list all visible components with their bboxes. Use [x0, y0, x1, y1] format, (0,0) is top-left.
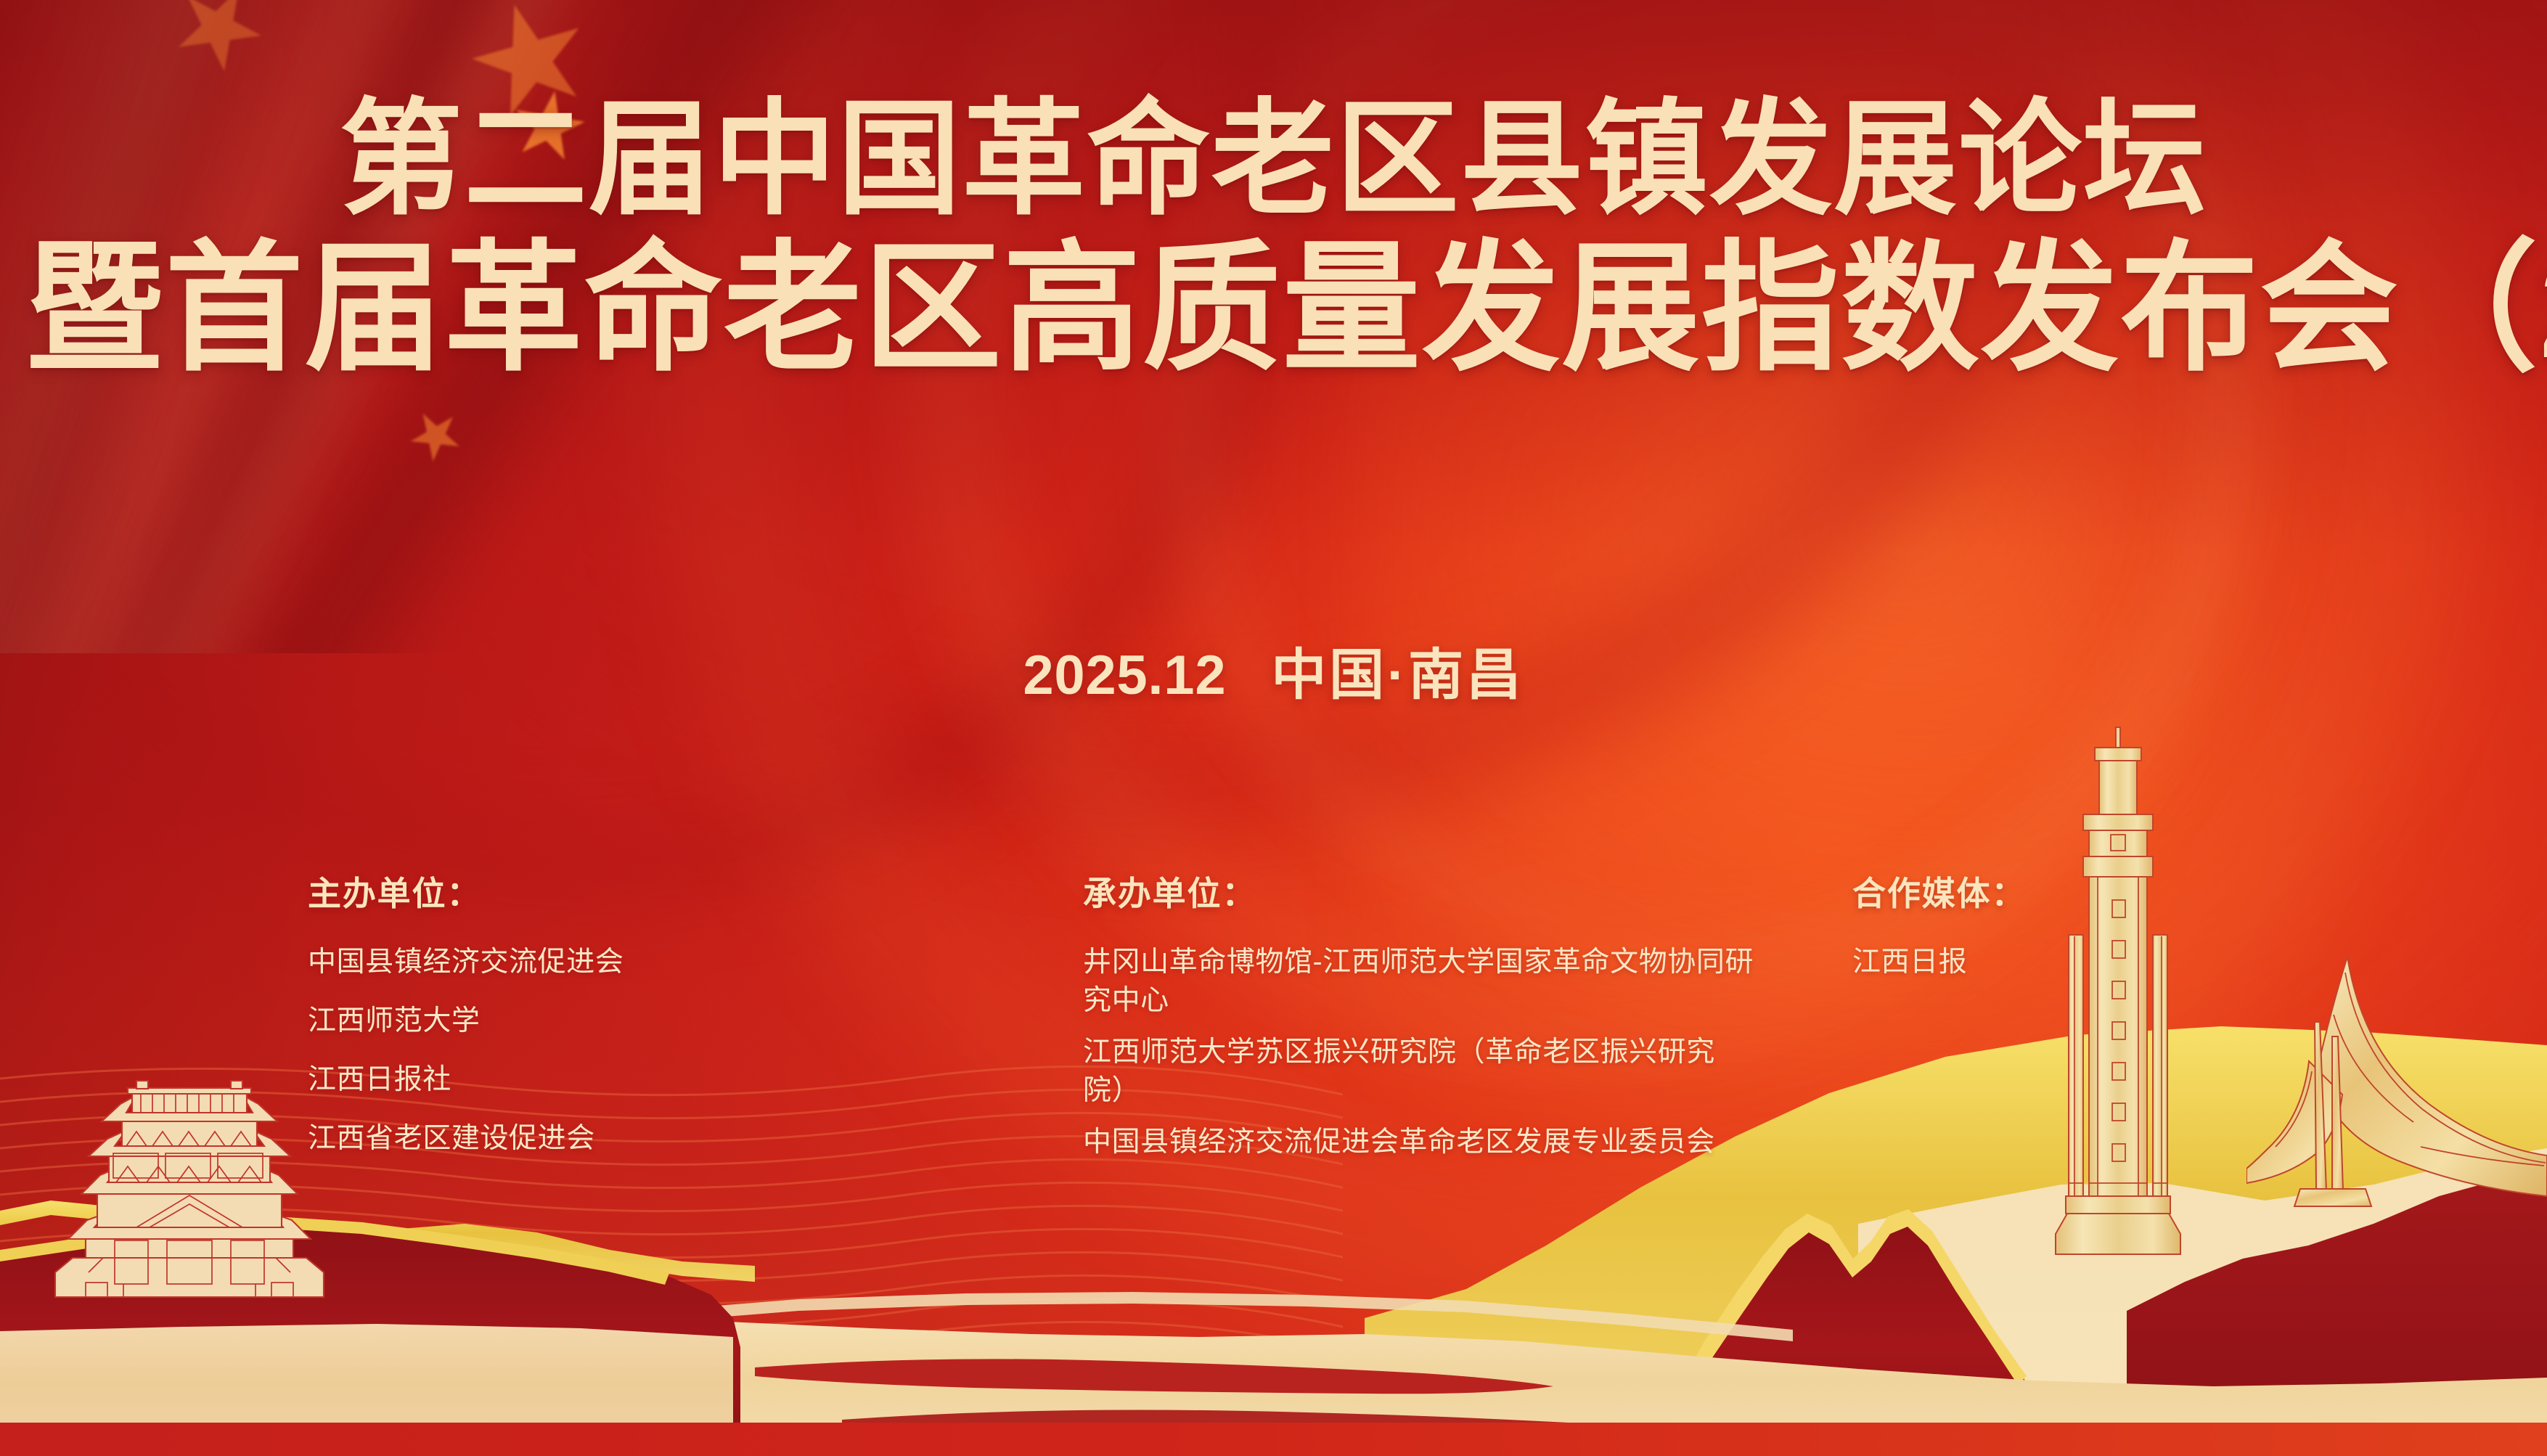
- column-media-item: 江西日报: [1852, 943, 2164, 981]
- column-media: 合作媒体： 江西日报: [1852, 867, 2164, 1000]
- conference-banner: ★ ★ ★ ★ 第二届中国革命老区县镇发展论坛 暨首届革命老区高质量发展指数发布…: [0, 0, 2547, 1456]
- column-host-heading: 主办单位：: [308, 867, 772, 915]
- event-date: 2025.12: [1023, 645, 1226, 706]
- column-host: 主办单位： 中国县镇经济交流促进会 江西师范大学 江西日报社 江西省老区建设促进…: [308, 867, 772, 1178]
- column-host-item: 江西日报社: [308, 1060, 772, 1099]
- column-host-item: 江西省老区建设促进会: [308, 1119, 772, 1158]
- column-organizer-item: 井冈山革命博物馆-江西师范大学国家革命文物协同研究中心: [1083, 943, 1758, 1020]
- banner-subtitle: 2025.12中国·南昌: [0, 630, 2547, 710]
- column-media-heading: 合作媒体：: [1852, 867, 2164, 915]
- title-line-1: 第二届中国革命老区县镇发展论坛: [25, 93, 2522, 226]
- banner-title: 第二届中国革命老区县镇发展论坛 暨首届革命老区高质量发展指数发布会（2025）: [0, 93, 2547, 384]
- bottom-border-strip: [0, 1423, 2547, 1456]
- title-line-2: 暨首届革命老区高质量发展指数发布会（2025）: [25, 234, 2522, 384]
- column-organizer-heading: 承办单位：: [1083, 867, 1758, 915]
- partner-columns: 主办单位： 中国县镇经济交流促进会 江西师范大学 江西日报社 江西省老区建设促进…: [0, 867, 2547, 1317]
- column-host-item: 中国县镇经济交流促进会: [308, 943, 772, 981]
- column-organizer: 承办单位： 井冈山革命博物馆-江西师范大学国家革命文物协同研究中心 江西师范大学…: [1083, 867, 1758, 1174]
- column-organizer-item: 江西师范大学苏区振兴研究院（革命老区振兴研究院）: [1083, 1033, 1758, 1110]
- column-host-item: 江西师范大学: [308, 1002, 772, 1040]
- column-organizer-item: 中国县镇经济交流促进会革命老区发展专业委员会: [1083, 1123, 1758, 1161]
- event-location: 中国·南昌: [1271, 645, 1524, 706]
